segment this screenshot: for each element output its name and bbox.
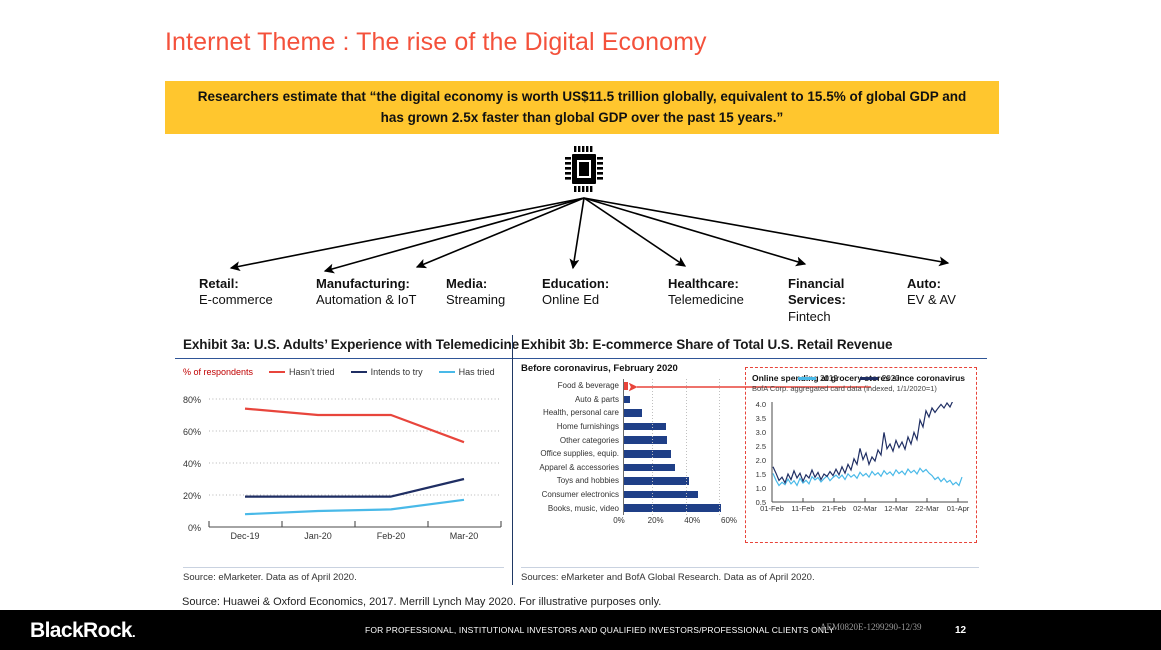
legend-item-hasnt-tried: Hasn’t tried [269, 367, 335, 377]
node-sub: Fintech [788, 309, 874, 325]
x-tick-jan20: Jan-20 [294, 531, 342, 541]
legend-swatch-2020 [860, 377, 878, 379]
legend-label: Has tried [459, 367, 495, 377]
legend-label: Hasn’t tried [289, 367, 335, 377]
y-tick-25: 2.5 [750, 442, 766, 451]
legend-label: 2019 [820, 374, 838, 383]
legend-label: Intends to try [371, 367, 423, 377]
logo-dot: . [132, 625, 135, 640]
bar-gridline [652, 379, 653, 515]
x-tick-0: 0% [613, 516, 625, 525]
exhibit-3b-source: Sources: eMarketer and BofA Global Resea… [521, 567, 979, 583]
bar [624, 464, 675, 472]
footer-document-id: AEM0820E-1299290-12/39 [820, 622, 922, 632]
diagram-node-education: Education: Online Ed [542, 276, 609, 309]
node-heading: Healthcare: [668, 276, 744, 292]
x-tick-12mar: 12-Mar [880, 504, 912, 513]
y-tick-35: 3.5 [750, 414, 766, 423]
exhibit-3a-source: Source: eMarketer. Data as of April 2020… [183, 567, 504, 583]
x-tick-22mar: 22-Mar [911, 504, 943, 513]
node-heading: Retail: [199, 276, 273, 292]
node-sub: Telemedicine [668, 292, 744, 308]
inset-legend: 2019 2020 [798, 374, 900, 383]
legend-item-2020: 2020 [860, 374, 900, 383]
bar-label: Consumer electronics [519, 490, 623, 499]
bar-row: Food & beverage [519, 379, 729, 393]
bar-track [623, 461, 729, 475]
y-tick-40: 40% [175, 459, 201, 469]
bar-label: Toys and hobbies [519, 476, 623, 485]
digital-economy-diagram: Retail: E-commerce Manufacturing: Automa… [165, 140, 999, 330]
diagram-node-financial-services: Financial Services: Fintech [788, 276, 874, 325]
bar-row: Books, music, video [519, 501, 729, 515]
diagram-node-media: Media: Streaming [446, 276, 505, 309]
y-tick-0: 0% [175, 523, 201, 533]
bar-chart-heading: Before coronavirus, February 2020 [521, 363, 678, 374]
bar-track [623, 406, 729, 420]
y-tick-30: 3.0 [750, 428, 766, 437]
exhibit-3a-body: % of respondents Hasn’t tried Intends to… [175, 359, 512, 559]
bar-gridline [719, 379, 720, 515]
bar [624, 382, 628, 390]
slide-source: Source: Huawei & Oxford Economics, 2017.… [182, 596, 661, 608]
bar-row: Health, personal care [519, 406, 729, 420]
node-sub: Streaming [446, 292, 505, 308]
inset-subtitle: BofA Corp. aggregated card data (indexed… [752, 384, 970, 394]
x-tick-feb20: Feb-20 [367, 531, 415, 541]
highlight-banner: Researchers estimate that “the digital e… [165, 81, 999, 134]
bar-row: Apparel & accessories [519, 461, 729, 475]
bar [624, 409, 642, 417]
x-tick-mar20: Mar-20 [440, 531, 488, 541]
bar-label: Office supplies, equip. [519, 449, 623, 458]
y-tick-10: 1.0 [750, 484, 766, 493]
exhibit-3a: Exhibit 3a: U.S. Adults’ Experience with… [175, 335, 512, 585]
bar [624, 436, 667, 444]
x-tick-dec19: Dec-19 [221, 531, 269, 541]
bar-row: Home furnishings [519, 420, 729, 434]
grocery-plot [770, 402, 970, 512]
bar [624, 423, 666, 431]
bar-track [623, 488, 729, 502]
exhibits-panel: Exhibit 3a: U.S. Adults’ Experience with… [175, 335, 987, 585]
diagram-node-healthcare: Healthcare: Telemedicine [668, 276, 744, 309]
diagram-node-auto: Auto: EV & AV [907, 276, 956, 309]
bar-chart-x-axis: 0% 20% 40% 60% [619, 515, 729, 529]
bar [624, 450, 671, 458]
bar-label: Books, music, video [519, 504, 623, 513]
bar-track [623, 420, 729, 434]
page-title: Internet Theme : The rise of the Digital… [165, 28, 707, 57]
bar-row: Consumer electronics [519, 488, 729, 502]
bar-track [623, 501, 729, 515]
bar-label: Home furnishings [519, 422, 623, 431]
exhibit-3b-title: Exhibit 3b: E-commerce Share of Total U.… [513, 335, 987, 359]
node-heading: Auto: [907, 276, 956, 292]
bar-track [623, 433, 729, 447]
legend-item-has-tried: Has tried [439, 367, 495, 377]
bar-track [623, 393, 729, 407]
bar-track [623, 447, 729, 461]
x-tick-40: 40% [684, 516, 700, 525]
legend-swatch-intends-to-try [351, 371, 367, 374]
bar-label: Other categories [519, 436, 623, 445]
node-sub: E-commerce [199, 292, 273, 308]
node-heading: Financial Services: [788, 276, 874, 309]
ecommerce-share-bar-chart: Food & beverage Auto & parts Health, per… [519, 379, 729, 529]
banner-text: Researchers estimate that “the digital e… [193, 87, 971, 129]
y-tick-20: 20% [175, 491, 201, 501]
legend-swatch-hasnt-tried [269, 371, 285, 374]
legend-label: 2020 [882, 374, 900, 383]
diagram-node-manufacturing: Manufacturing: Automation & IoT [316, 276, 416, 309]
bar-track [623, 474, 729, 488]
bar [624, 491, 698, 499]
x-tick-11feb: 11-Feb [787, 504, 819, 513]
bar-label: Apparel & accessories [519, 463, 623, 472]
y-tick-40: 4.0 [750, 400, 766, 409]
y-tick-60: 60% [175, 427, 201, 437]
node-sub: Automation & IoT [316, 292, 416, 308]
bar-row: Toys and hobbies [519, 474, 729, 488]
exhibit-3a-legend: % of respondents Hasn’t tried Intends to… [183, 367, 520, 377]
diagram-node-retail: Retail: E-commerce [199, 276, 273, 309]
node-sub: EV & AV [907, 292, 956, 308]
x-tick-21feb: 21-Feb [818, 504, 850, 513]
bar-track [623, 379, 729, 393]
x-tick-01apr: 01-Apr [942, 504, 974, 513]
exhibit-3b: Exhibit 3b: E-commerce Share of Total U.… [512, 335, 987, 585]
legend-swatch-has-tried [439, 371, 455, 374]
node-heading: Education: [542, 276, 609, 292]
exhibit-3a-title: Exhibit 3a: U.S. Adults’ Experience with… [175, 335, 512, 359]
logo-text: BlackRock [30, 619, 132, 642]
footer-bar: BlackRock. FOR PROFESSIONAL, INSTITUTION… [0, 610, 1161, 650]
slide: Internet Theme : The rise of the Digital… [0, 0, 1161, 650]
bar-gridline [686, 379, 687, 515]
y-tick-80: 80% [175, 395, 201, 405]
telemedicine-plot [205, 387, 505, 537]
bar-row: Office supplies, equip. [519, 447, 729, 461]
legend-item-intends-to-try: Intends to try [351, 367, 423, 377]
node-heading: Manufacturing: [316, 276, 416, 292]
node-sub: Online Ed [542, 292, 609, 308]
telemedicine-line-chart: 80% 60% 40% 20% 0% [175, 387, 512, 552]
bar-label: Health, personal care [519, 408, 623, 417]
blackrock-logo: BlackRock. [30, 619, 135, 643]
node-heading: Media: [446, 276, 505, 292]
bar [624, 504, 721, 512]
bar-label: Food & beverage [519, 381, 623, 390]
bar-row: Other categories [519, 433, 729, 447]
exhibit-3a-axis-label: % of respondents [183, 367, 253, 377]
x-tick-02mar: 02-Mar [849, 504, 881, 513]
y-tick-15: 1.5 [750, 470, 766, 479]
grocery-spending-inset: Online spending at grocery stores since … [745, 367, 977, 543]
x-tick-20: 20% [648, 516, 664, 525]
bar [624, 396, 630, 404]
bar-row: Auto & parts [519, 393, 729, 407]
exhibit-3b-body: Before coronavirus, February 2020 Food &… [513, 359, 987, 559]
footer-page-number: 12 [955, 625, 966, 636]
x-tick-60: 60% [721, 516, 737, 525]
y-tick-20: 2.0 [750, 456, 766, 465]
grocery-line-chart: 4.0 3.5 3.0 2.5 2.0 1.5 1.0 0.5 [750, 400, 974, 540]
bar-label: Auto & parts [519, 395, 623, 404]
legend-swatch-2019 [798, 377, 816, 379]
x-tick-01feb: 01-Feb [756, 504, 788, 513]
bar [624, 477, 689, 485]
footer-disclaimer: FOR PROFESSIONAL, INSTITUTIONAL INVESTOR… [365, 625, 834, 635]
legend-item-2019: 2019 [798, 374, 838, 383]
